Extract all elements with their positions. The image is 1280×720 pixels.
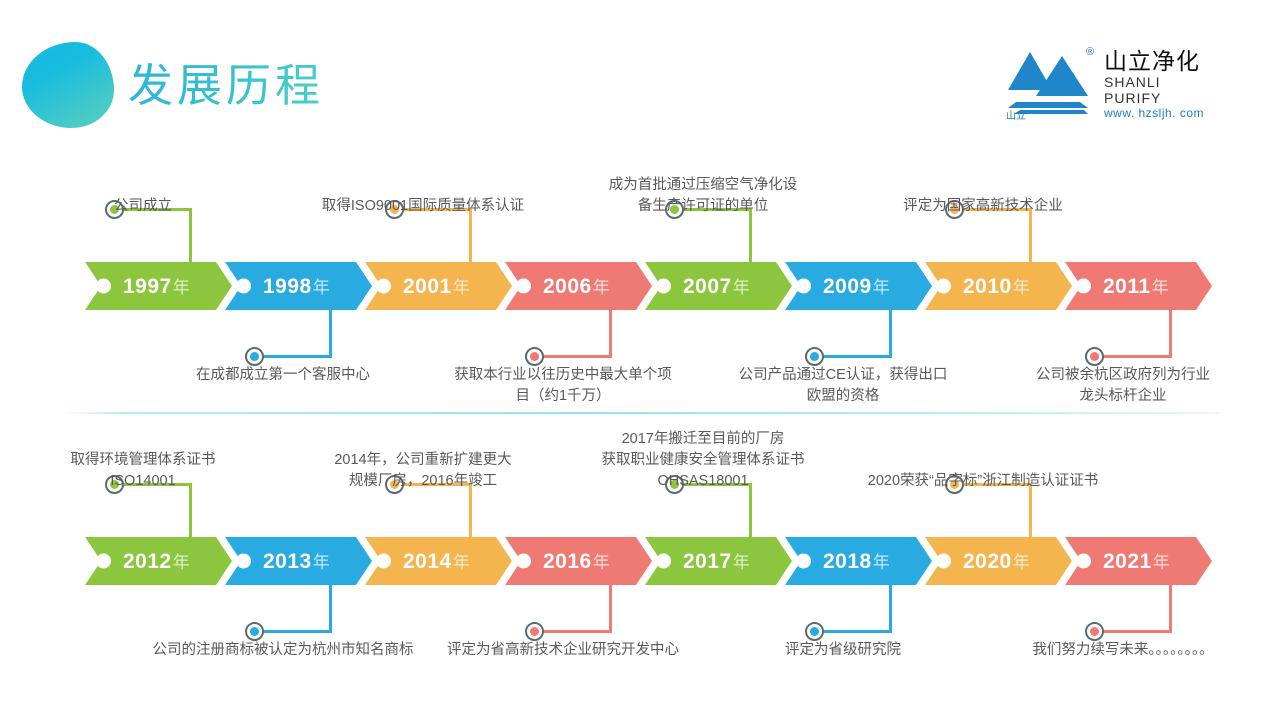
page-title: 发展历程	[128, 56, 324, 116]
logo-company-cn: 山立净化	[1104, 48, 1220, 74]
row-divider	[64, 412, 1219, 414]
timeline-connector-2021	[0, 425, 1280, 675]
logo-mark-label: 山立	[1006, 107, 1026, 122]
milestone-label-2021: 我们努力续写未来。。。。。。。。	[973, 640, 1273, 661]
timeline-row-2: 2012年2013年2014年2016年2017年2018年2020年2021年…	[0, 425, 1280, 675]
registered-mark-icon: ®	[1086, 46, 1094, 58]
timeline-row-1: 1997年1998年2001年2006年2007年2009年2010年2011年…	[0, 150, 1280, 400]
logo-wordmark: 山立净化 SHANLI PURIFY www. hzsljh. com	[1104, 48, 1220, 121]
logo-company-en: SHANLI PURIFY	[1104, 74, 1220, 106]
decorative-blob-icon	[22, 42, 114, 128]
company-logo: 山立 ® 山立净化 SHANLI PURIFY www. hzsljh. com	[1000, 44, 1218, 124]
slide-canvas: 发展历程 山立 ® 山立净化 SHANLI PURIFY www. hzsljh…	[0, 0, 1280, 720]
timeline-connector-2011	[0, 150, 1280, 400]
logo-website: www. hzsljh. com	[1104, 106, 1220, 121]
milestone-label-2011: 公司被余杭区政府列为行业 龙头标杆企业	[973, 365, 1273, 407]
